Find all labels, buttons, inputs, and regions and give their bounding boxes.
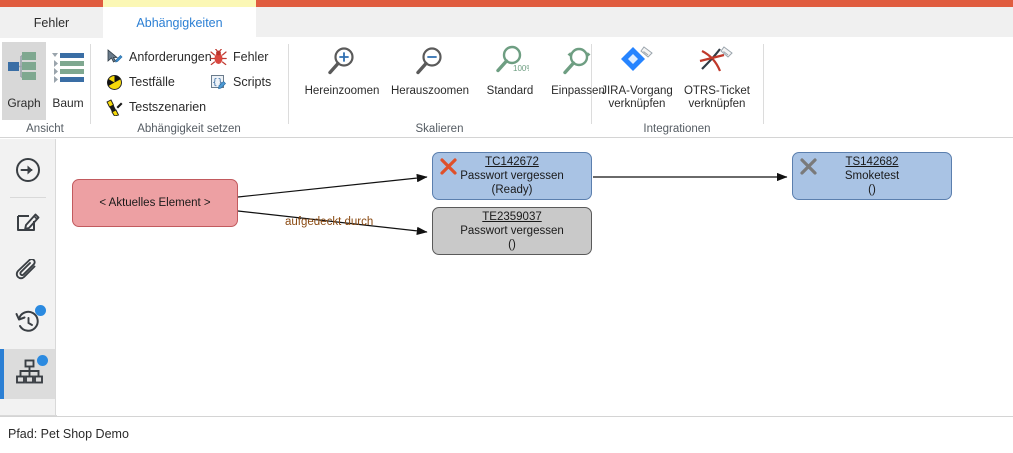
tab-abhaengigkeiten-label: Abhängigkeiten [136,16,222,30]
tab-abhaengigkeiten[interactable]: Abhängigkeiten [103,7,256,38]
graph-node-tc142672-id: TC142672 [485,155,539,169]
sidebar-divider [10,197,46,198]
ribbon-toolbar: Graph Baum Ansicht [0,38,1013,138]
graph-node-te2359037-title: Passwort vergessen [460,224,564,238]
graph-icon [4,42,44,92]
menu-item-anforderungen-label: Anforderungen [129,50,212,64]
menu-item-anforderungen[interactable]: Anforderungen [104,46,212,68]
button-jira-label-line1: JIRA-Vorgang [601,85,673,97]
graph-canvas[interactable]: aufgedeckt durch < Aktuelles Element > T… [57,139,1013,415]
button-standard-label: Standard [487,85,534,98]
active-tab-marker [103,0,256,7]
bug-icon [208,48,228,66]
edge-label-aufgedeckt-durch: aufgedeckt durch [285,216,373,228]
svg-text:100%: 100% [513,64,529,73]
zoom-in-icon [325,42,359,82]
ribbon-group-abhaengigkeit-title: Abhängigkeit setzen [90,123,288,135]
button-hereinzoomen-label: Hereinzoomen [305,85,380,98]
menu-item-testfaelle-label: Testfälle [129,75,175,89]
history-badge-dot [35,305,46,316]
script-icon: {} [208,73,228,91]
menu-item-testfaelle[interactable]: Testfälle [104,71,175,93]
menu-item-fehler-label: Fehler [233,50,268,64]
application-window: Fehler Abhängigkeiten [0,0,1013,453]
x-mark-icon [439,157,458,180]
requirements-icon [104,48,124,66]
view-button-baum[interactable]: Baum [46,42,90,120]
button-herauszoomen-label: Herauszoomen [391,85,469,98]
status-bar-path: Pfad: Pet Shop Demo [8,427,129,441]
ribbon-group-abhaengigkeit-setzen: Anforderungen Testfälle [90,38,288,138]
graph-node-ts142682-id: TS142682 [845,155,898,169]
testscenario-icon [104,98,124,116]
graph-node-te2359037[interactable]: TE2359037 Passwort vergessen () [432,207,592,255]
button-otrs-label-line1: OTRS-Ticket [684,85,750,97]
sidebar-item-dependencies[interactable] [0,349,55,399]
view-button-baum-label: Baum [52,96,83,110]
arrow-right-circle-icon [15,157,41,188]
menu-item-fehler[interactable]: Fehler [208,46,268,68]
graph-node-current-element-title: < Aktuelles Element > [99,196,210,210]
button-herauszoomen[interactable]: Herauszoomen [382,42,478,98]
graph-node-tc142672-title: Passwort vergessen [460,169,564,183]
button-otrs-label-line2: verknüpfen [689,98,746,110]
tree-icon [48,42,88,92]
tab-strip: Fehler Abhängigkeiten [0,7,1013,38]
menu-item-scripts-label: Scripts [233,75,271,89]
graph-node-te2359037-state: () [508,238,516,252]
graph-node-te2359037-id: TE2359037 [482,210,541,224]
button-jira-label-line2: verknüpfen [609,98,666,110]
ribbon-group-ansicht: Graph Baum Ansicht [0,38,90,138]
ribbon-group-integrationen: JIRA-Vorgang verknüpfen OTRS-Ticket [591,38,763,138]
menu-item-testszenarien-label: Testszenarien [129,100,206,114]
otrs-link-icon [698,42,736,82]
view-button-graph[interactable]: Graph [2,42,46,120]
status-bar: Pfad: Pet Shop Demo [0,416,1013,453]
graph-node-ts142682-title: Smoketest [845,169,899,183]
ribbon-separator-4 [763,44,764,124]
button-otrs-ticket-verknuepfen[interactable]: OTRS-Ticket verknüpfen [675,42,759,111]
graph-node-current-element[interactable]: < Aktuelles Element > [72,179,238,227]
graph-node-tc142672-state: (Ready) [492,183,533,197]
sidebar-item-navigate[interactable] [0,147,55,197]
left-sidebar [0,139,56,415]
sidebar-item-edit[interactable] [0,199,55,249]
sidebar-item-attachments[interactable] [0,249,55,299]
paperclip-icon [15,259,41,290]
graph-node-tc142672[interactable]: TC142672 Passwort vergessen (Ready) [432,152,592,200]
menu-item-scripts[interactable]: {} Scripts [208,71,271,93]
ribbon-group-ansicht-title: Ansicht [0,123,90,135]
tab-fehler[interactable]: Fehler [0,7,103,38]
ribbon-group-integrationen-title: Integrationen [591,123,763,135]
testcase-icon [104,73,124,91]
button-jira-vorgang-verknuepfen[interactable]: JIRA-Vorgang verknüpfen [595,42,679,111]
view-button-graph-label: Graph [7,96,40,110]
menu-item-testszenarien[interactable]: Testszenarien [104,96,206,118]
x-mark-gray-icon [799,157,818,180]
graph-node-ts142682-state: () [868,183,876,197]
ribbon-group-skalieren: Hereinzoomen Herauszoomen [288,38,591,138]
button-hereinzoomen[interactable]: Hereinzoomen [296,42,388,98]
graph-node-ts142682[interactable]: TS142682 Smoketest () [792,152,952,200]
dependencies-badge-dot [37,355,48,366]
ribbon-group-skalieren-title: Skalieren [288,123,591,135]
button-standard[interactable]: 100% Standard [476,42,544,98]
zoom-100-icon: 100% [491,42,529,82]
edit-pencil-icon [15,209,41,240]
zoom-out-icon [413,42,447,82]
edge-current-to-tc [238,177,427,197]
tab-fehler-label: Fehler [34,16,69,30]
jira-link-icon [618,42,656,82]
sidebar-item-history[interactable] [0,299,55,349]
